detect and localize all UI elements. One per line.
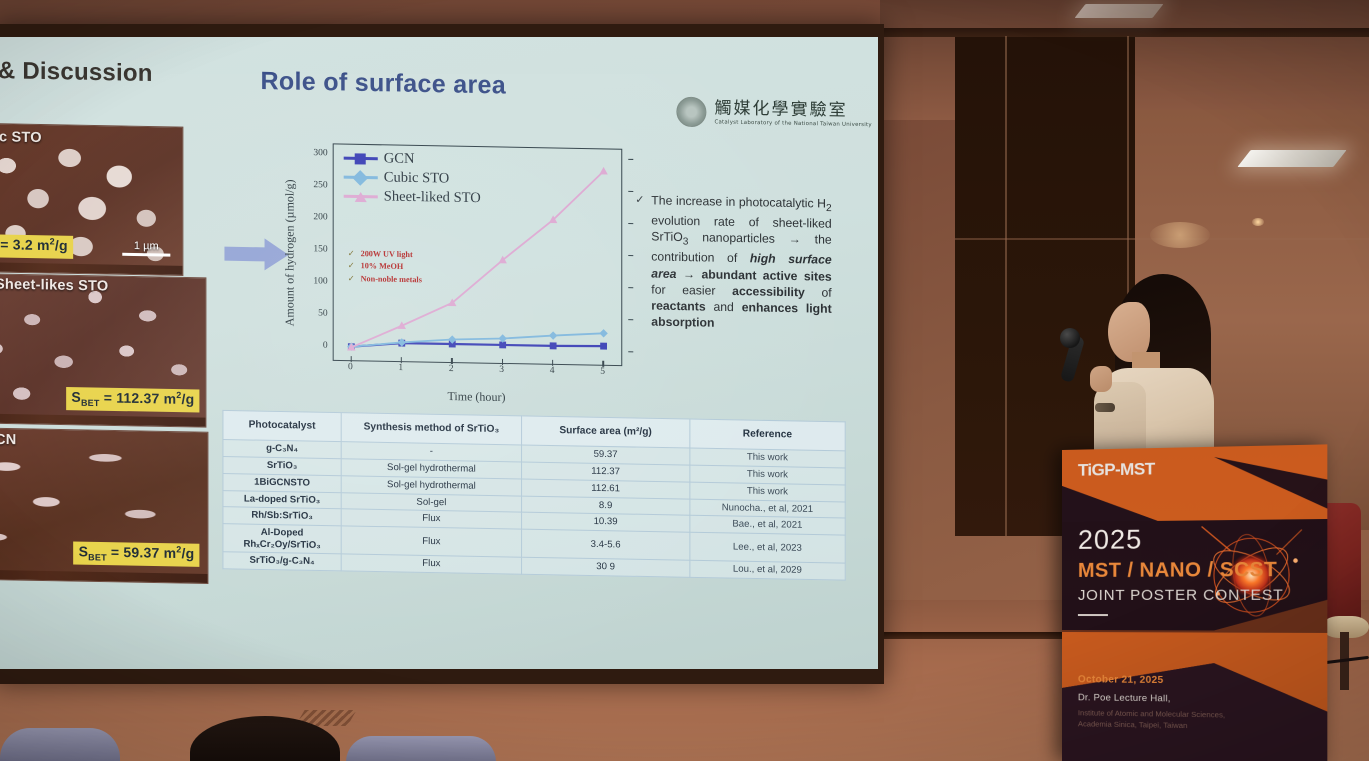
x-axis-tick-label: 5 [600,367,605,377]
table-cell-area: 30 9 [522,558,690,578]
bet-subscript: BET [88,552,107,562]
ceiling-light-reflection-1 [1237,150,1346,167]
table-cell-method: Flux [341,554,521,574]
y-axis-tick-mark [628,287,633,288]
lecture-hall-scene: esult & Discussion Role of surface area … [0,0,1369,761]
lab-logo: 觸媒化學實驗室 Catalyst Laboratory of the Natio… [676,97,871,131]
legend-item-sheet: Sheet-liked STO [344,187,481,209]
annotation-row: ✓Non-noble metals [348,273,422,287]
ceiling-beam [880,28,1369,37]
bullet-strong-1: abundant active sites [701,267,831,283]
legend-swatch-sheet [344,195,378,199]
presenter-hand [1090,366,1112,392]
bet-suffix: /g [182,545,195,561]
chart-marker [599,167,607,175]
x-axis-tick-mark [451,358,452,364]
podium-divider [1078,614,1108,616]
podium-main-line: MST / NANO / SCST [1078,559,1277,583]
legend-swatch-gcn [344,157,378,161]
y-axis-tick-label: 300 [313,148,327,158]
legend-label-cubic: Cubic STO [384,169,450,187]
x-axis-tick-mark [502,359,503,365]
table-column-header: Photocatalyst [223,410,341,442]
scale-bar-cubic: 1 µm [122,240,170,257]
y-axis-tick-mark [628,158,633,159]
bet-suffix: /g [55,237,68,253]
y-axis-tick-mark [628,255,633,256]
presenter-watch [1095,403,1115,412]
audience-shoulder-right [346,736,496,761]
bet-number: = 112.37 m [104,390,177,407]
chart-legend: GCN Cubic STO Sheet-liked STO [344,149,481,209]
chart-marker [600,343,607,350]
chart-marker [550,342,557,349]
annotation-text: 10% MeOH [361,262,404,272]
y-axis-tick-label: 250 [313,180,327,190]
table-cell-reference: Lee., et al, 2023 [690,532,846,563]
bet-prefix: S [79,543,89,559]
chart-x-ticks: 012345 [333,362,621,387]
key-finding-bullet: ✓ The increase in photocatalytic H2 evol… [635,192,831,334]
y-axis-tick-label: 150 [313,244,327,254]
wall-seam-vertical [1005,36,1007,536]
chart-marker [549,331,557,340]
annotation-text: 200W UV light [361,249,413,259]
table-cell-catalyst: Al-Doped RhₓCr₂Oy/SrTiO₃ [223,524,341,555]
audience-shoulder-left [0,728,120,761]
podium-year: 2025 [1078,524,1142,556]
bet-number: = 59.37 m [111,544,176,561]
lab-name-english: Catalyst Laboratory of the National Taiw… [714,119,871,128]
table-column-header: Synthesis method of SrTiO₃ [341,413,521,446]
podium-banner: TiGP-MST 2025 MST / NANO / SCST JOINT PO… [1062,444,1327,761]
bullet-text-1: The increase in photocatalytic H [651,193,826,210]
chart-y-ticks: 050100150200250300 [295,143,328,359]
podium-date: October 21, 2025 [1078,674,1164,686]
y-axis-tick-mark [628,319,633,320]
section-title: esult & Discussion [0,56,153,88]
podium-institute: Institute of Atomic and Molecular Scienc… [1078,707,1257,733]
legend-marker-diamond [352,170,368,186]
bullet-arrow: → [676,267,701,281]
bet-value-cn: SBET = 59.37 m2/g [74,542,200,567]
ceiling-light-reflection-2 [1075,4,1164,18]
x-axis-tick-mark [603,361,604,367]
bullet-text-6: and [706,300,742,315]
projection-screen: esult & Discussion Role of surface area … [0,37,878,669]
bet-number: = 3.2 m [0,236,49,253]
y-axis-tick-mark [628,223,633,224]
sem-image-cn: CN SBET = 59.37 m2/g [0,427,208,584]
bullet-sub-2: 2 [826,203,832,214]
legend-item-gcn: GCN [344,149,481,171]
bet-value-cubic: SBET = 3.2 m2/g [0,234,73,259]
y-axis-tick-label: 0 [323,341,328,351]
legend-marker-square [355,153,366,164]
legend-marker-triangle [355,191,367,201]
legend-label-gcn: GCN [384,150,415,168]
microphone-head-icon [1060,328,1080,348]
chart-marker [599,329,607,338]
bet-suffix: /g [182,391,195,407]
table-cell-catalyst: SrTiO₃ [223,457,341,476]
x-axis-tick-mark [401,357,402,363]
bet-value-sheet: SBET = 112.37 m2/g [66,387,199,412]
page-title: Role of surface area [261,67,506,101]
x-axis-tick-label: 3 [499,365,504,375]
chart-x-axis-label: Time (hour) [333,387,621,407]
bullet-strong-2: accessibility [732,284,805,299]
x-axis-tick-label: 2 [449,364,454,374]
bet-subscript: BET [81,398,100,408]
table-cell-reference: Lou., et al, 2029 [690,561,846,581]
sem-image-cubic-sto: Cubic STO SBET = 3.2 m2/g 1 µm [0,122,183,275]
table-cell-catalyst: SrTiO₃/g-C₃N₄ [223,552,341,571]
chart-plot-area: GCN Cubic STO Sheet-liked STO [333,143,623,366]
sem-info-strip [0,569,207,583]
x-axis-tick-mark [350,356,351,362]
bet-prefix: S [71,389,81,405]
check-icon: ✓ [348,261,355,270]
sem-label-cubic: Cubic STO [0,129,42,146]
legend-label-sheet: Sheet-liked STO [384,188,481,207]
lab-name-chinese: 觸媒化學實驗室 [714,100,871,120]
chart-annotations: ✓200W UV light ✓10% MeOH ✓Non-noble meta… [348,248,422,287]
presentation-slide: esult & Discussion Role of surface area … [0,37,878,654]
x-axis-tick-label: 1 [398,363,403,373]
y-axis-tick-label: 200 [313,212,327,222]
table-column-header: Reference [690,419,846,451]
y-axis-tick-mark [628,191,633,192]
table-cell-method: Flux [341,526,521,558]
sem-label-sheet: Sheet-likes STO [0,276,108,294]
annotation-text: Non-noble metals [361,274,422,284]
legend-item-cubic: Cubic STO [344,168,481,190]
table-body: g-C₃N₄-59.37This workSrTiO₃Sol-gel hydro… [223,440,845,580]
legend-swatch-cubic [344,176,378,180]
downlight-glow [1150,222,1210,248]
x-axis-tick-label: 4 [550,366,555,376]
check-icon: ✓ [348,274,355,283]
scale-bar-line [122,253,170,257]
y-axis-tick-mark [628,351,633,352]
y-axis-tick-label: 100 [313,276,327,286]
wall-spotlight-glow [1252,218,1264,226]
check-icon: ✓ [635,193,644,208]
table-cell-area: 3.4-5.6 [522,529,690,561]
bullet-strong-3: reactants [651,299,705,314]
y-axis-tick-label: 50 [318,309,328,319]
x-axis-tick-mark [552,360,553,366]
university-seal-icon [676,97,706,128]
check-icon: ✓ [348,249,355,258]
sem-image-sheet-sto: Sheet-likes STO SBET = 112.37 m2/g [0,273,206,428]
podium-logo: TiGP-MST [1078,459,1155,481]
bullet-text-4: for easier [651,282,732,298]
podium-subtitle: JOINT POSTER CONTEST [1078,586,1284,604]
sem-info-strip [0,262,182,275]
scale-label: 1 µm [134,240,159,252]
bullet-text-5: of [805,285,832,300]
bullet-body: The increase in photocatalytic H2 evolut… [651,192,831,333]
x-axis-tick-label: 0 [348,362,353,372]
podium-venue: Dr. Poe Lecture Hall, [1078,692,1171,704]
comparison-table: PhotocatalystSynthesis method of SrTiO₃S… [222,410,845,581]
right-arrow-icon [222,234,290,275]
sem-label-cn: CN [0,432,16,448]
table-column-header: Surface area (m²/g) [522,416,690,449]
sem-info-strip [0,413,205,427]
table-cell-catalyst: g-C₃N₄ [223,440,341,459]
